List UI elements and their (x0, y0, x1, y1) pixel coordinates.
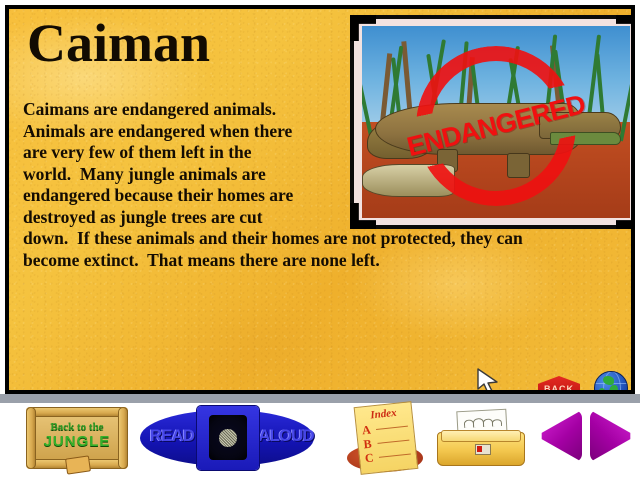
index-row: C (364, 449, 411, 463)
bamboo-post-right (118, 407, 128, 469)
speaker-dome (219, 429, 237, 447)
caiman-illustration: ENDANGERED (362, 26, 630, 218)
back-button-label: BACK (538, 384, 580, 394)
index-rule (379, 453, 411, 457)
back-button[interactable]: BACK (538, 376, 580, 394)
scroll-tag-icon (65, 455, 91, 474)
file-box-lid (441, 430, 521, 442)
index-letter-c: C (364, 450, 374, 466)
index-button[interactable]: Index A B C (345, 404, 429, 474)
previous-page-button[interactable] (540, 410, 582, 462)
picture-frame[interactable]: ENDANGERED (350, 15, 635, 229)
scribble-line (492, 419, 502, 427)
page-title: Caiman (27, 13, 210, 73)
toolbar-divider (0, 394, 640, 403)
globe-landmass (603, 376, 614, 385)
jungle-label-line1: Back to the (35, 421, 119, 433)
bamboo-rail-top (26, 407, 128, 417)
endangered-stamp: ENDANGERED (401, 31, 591, 218)
index-rule (377, 440, 409, 444)
index-notepad-icon: Index A B C (354, 401, 419, 475)
read-aloud-button[interactable]: READ ALOUD (140, 406, 314, 470)
globe-icon[interactable] (594, 371, 628, 394)
mouse-cursor (475, 366, 503, 394)
content-page: Caiman Caimans are endangered animals. A… (5, 5, 635, 394)
index-row: A (362, 421, 409, 435)
read-aloud-label-right: ALOUD (258, 426, 314, 446)
read-aloud-label-left: READ (145, 426, 199, 446)
index-row: B (363, 435, 410, 449)
speaker-cone-icon (209, 415, 247, 460)
bottom-toolbar: Back to the JUNGLE READ ALOUD Inde (0, 394, 640, 480)
index-rule (376, 426, 408, 430)
jungle-label-line2: JUNGLE (35, 433, 119, 450)
card-file-box-button[interactable] (437, 410, 523, 468)
bamboo-post-left (26, 407, 36, 469)
globe-landmass (609, 385, 618, 394)
app-screen: Caiman Caimans are endangered animals. A… (0, 0, 640, 480)
file-box-latch (475, 444, 491, 455)
next-page-button[interactable] (590, 410, 632, 462)
speaker-panel (197, 406, 259, 470)
back-to-jungle-button[interactable]: Back to the JUNGLE (26, 407, 128, 469)
sign-face: Back to the JUNGLE (35, 416, 119, 460)
